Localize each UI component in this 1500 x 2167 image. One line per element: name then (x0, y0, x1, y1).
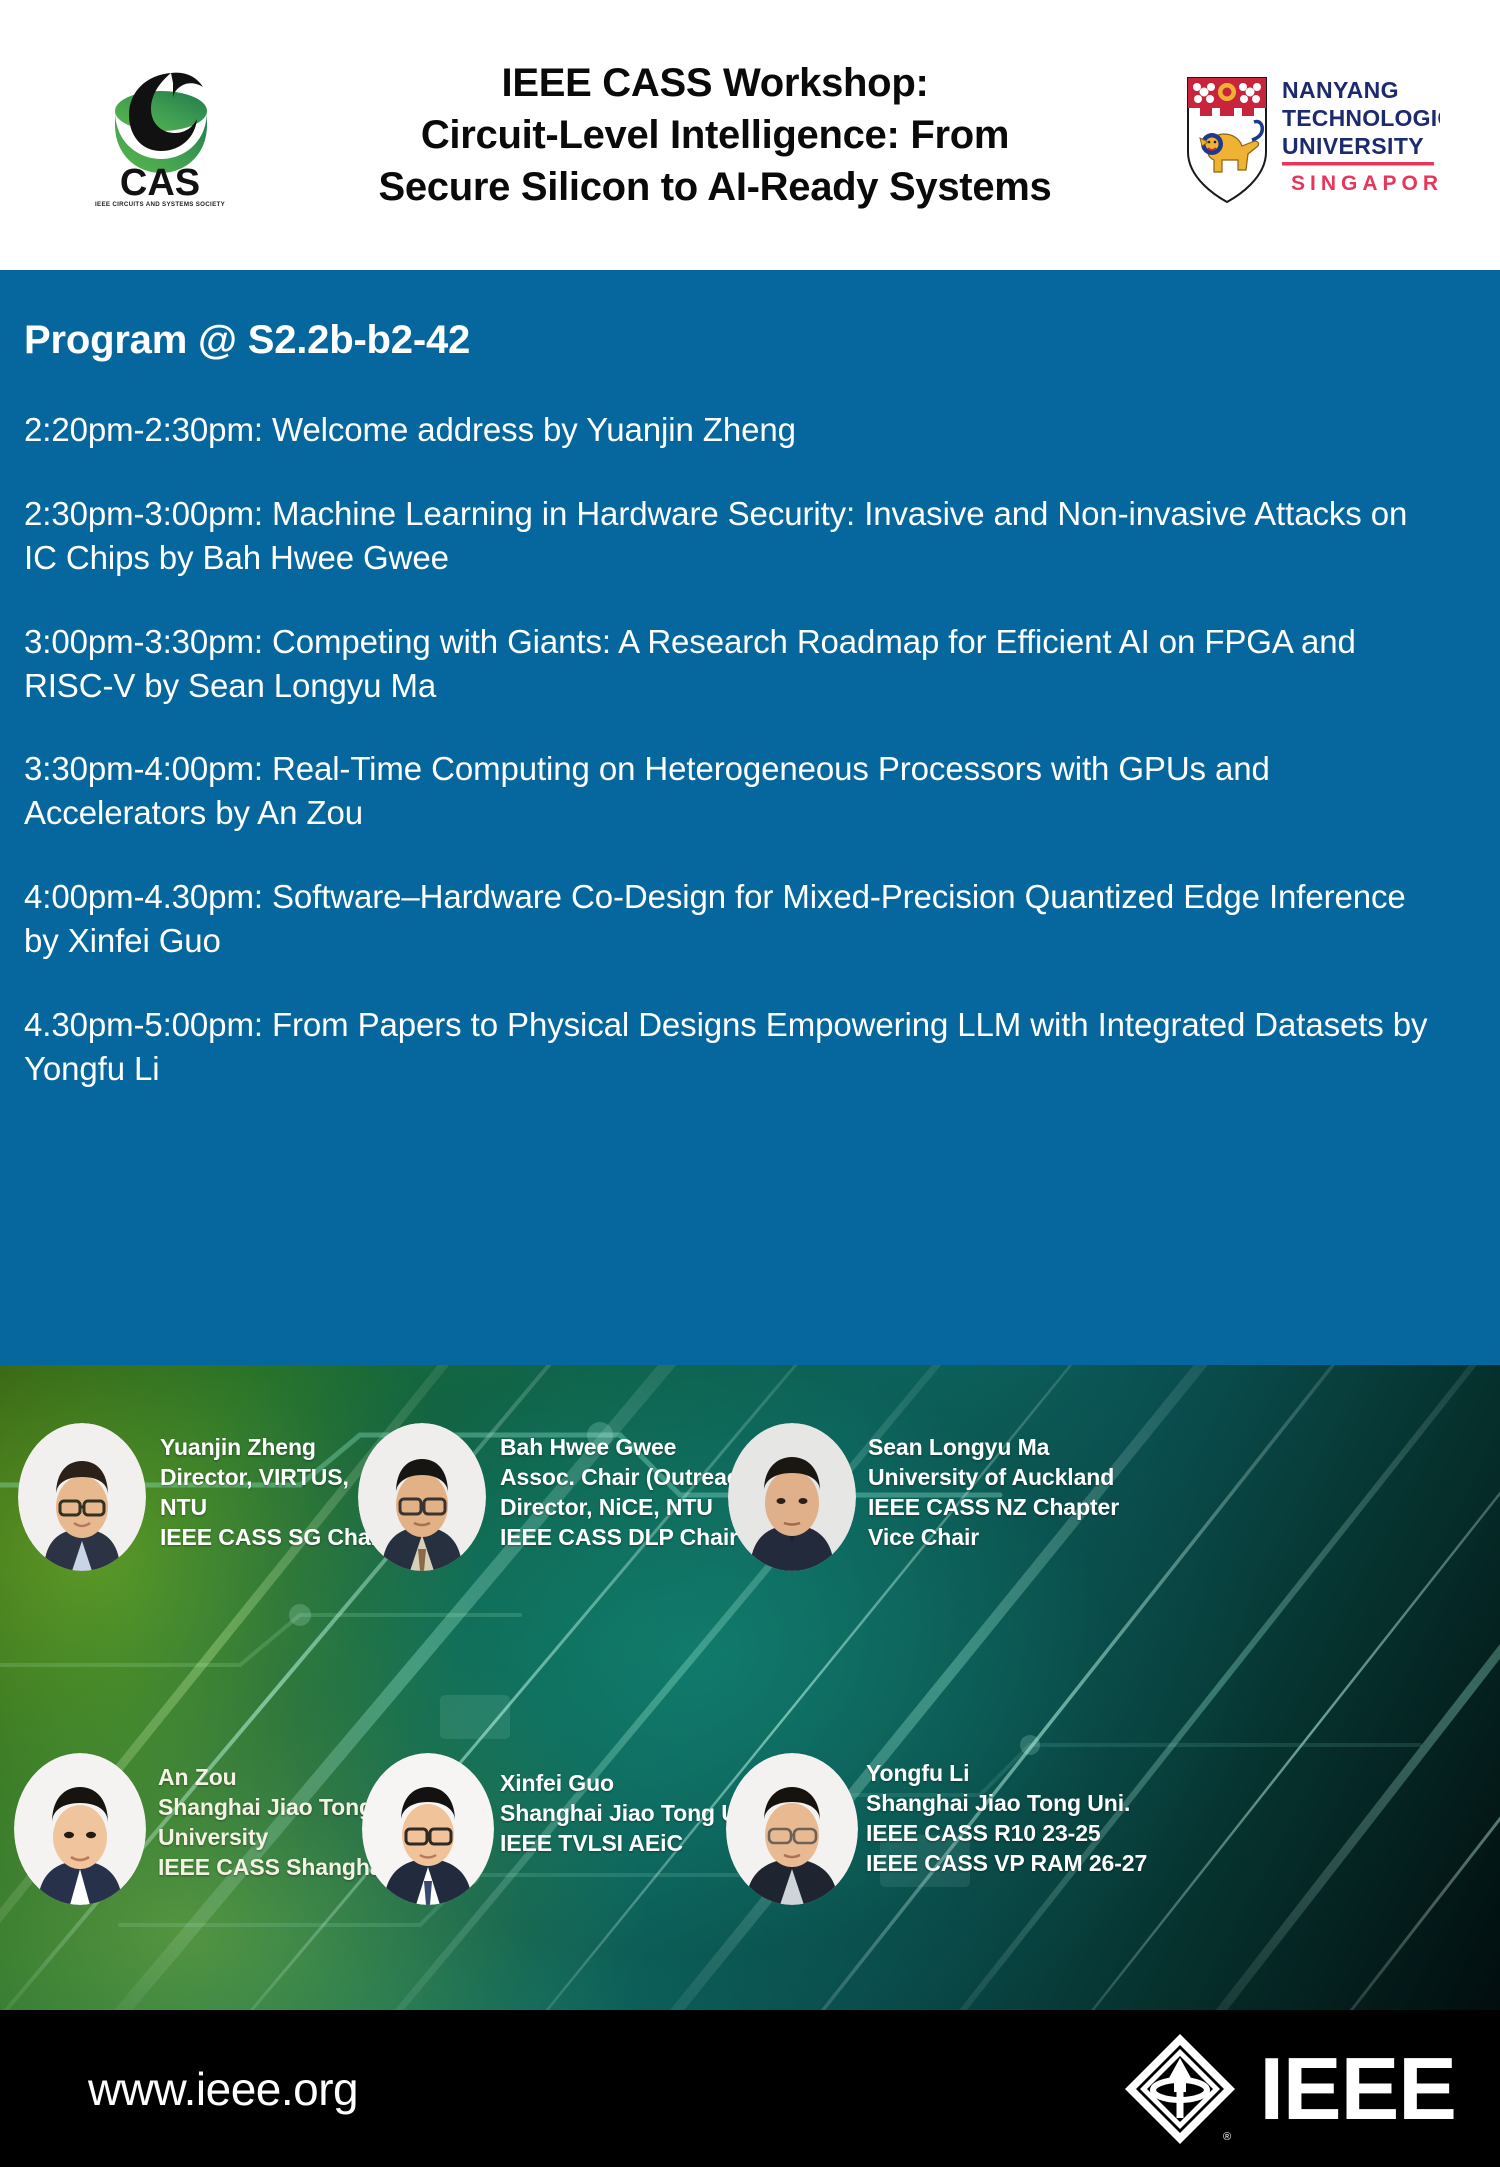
speaker-detail: IEEE CASS SG Chair (160, 1523, 386, 1553)
program-item: 4.30pm-5:00pm: From Papers to Physical D… (24, 1003, 1444, 1091)
speaker-detail: IEEE CASS Shanghai (158, 1853, 389, 1883)
speaker-info: An Zou Shanghai Jiao Tong University IEE… (158, 1763, 389, 1883)
speaker-detail: IEEE TVLSI AEiC (500, 1829, 764, 1859)
avatar (728, 1423, 856, 1571)
program-item: 3:30pm-4:00pm: Real-Time Computing on He… (24, 747, 1444, 835)
speaker-detail: IEEE CASS DLP Chair (500, 1523, 761, 1553)
speaker-name: Yuanjin Zheng (160, 1433, 386, 1463)
speaker-name: An Zou (158, 1763, 389, 1793)
speaker-detail: Director, NiCE, NTU (500, 1493, 761, 1523)
program-item: 3:00pm-3:30pm: Competing with Giants: A … (24, 620, 1444, 708)
poster-header: CAS IEEE CIRCUITS AND SYSTEMS SOCIETY IE… (0, 0, 1500, 270)
speaker-name: Sean Longyu Ma (868, 1433, 1119, 1463)
ntu-logo: NANYANG TECHNOLOGICAL UNIVERSITY SINGAPO… (1170, 50, 1440, 220)
speaker-detail: Vice Chair (868, 1523, 1119, 1553)
cas-acronym: CAS (120, 162, 200, 204)
cas-swoosh-icon: CAS IEEE CIRCUITS AND SYSTEMS SOCIETY (85, 63, 235, 208)
speaker-name: Yongfu Li (866, 1759, 1147, 1789)
speakers-panel: Yuanjin Zheng Director, VIRTUS, NTU IEEE… (0, 1365, 1500, 2010)
ieee-logo: ® IEEE (1119, 2028, 1456, 2150)
title-line-1: IEEE CASS Workshop: (270, 57, 1160, 109)
speaker-detail: Assoc. Chair (Outreach) (500, 1463, 761, 1493)
program-panel: Program @ S2.2b-b2-42 2:20pm-2:30pm: Wel… (0, 270, 1500, 1365)
poster-root: CAS IEEE CIRCUITS AND SYSTEMS SOCIETY IE… (0, 0, 1500, 2167)
speaker-detail: Shanghai Jiao Tong Uni. (866, 1789, 1147, 1819)
avatar (18, 1423, 146, 1571)
speaker-detail: University (158, 1823, 389, 1853)
title-line-3: Secure Silicon to AI-Ready Systems (270, 161, 1160, 213)
speaker-name: Xinfei Guo (500, 1769, 764, 1799)
program-item: 2:30pm-3:00pm: Machine Learning in Hardw… (24, 492, 1444, 580)
ntu-divider (1282, 162, 1434, 166)
speaker-detail: IEEE CASS NZ Chapter (868, 1493, 1119, 1523)
speaker-detail: Shanghai Jiao Tong (158, 1793, 389, 1823)
program-title: Program @ S2.2b-b2-42 (24, 318, 1444, 362)
speaker-detail: NTU (160, 1493, 386, 1523)
ntu-line-4: SINGAPORE (1291, 172, 1440, 195)
ntu-crest-icon: NANYANG TECHNOLOGICAL UNIVERSITY SINGAPO… (1178, 60, 1440, 210)
ieee-wordmark: IEEE (1259, 2045, 1456, 2133)
avatar (726, 1753, 858, 1905)
program-item: 2:20pm-2:30pm: Welcome address by Yuanji… (24, 408, 1444, 452)
cas-tagline: IEEE CIRCUITS AND SYSTEMS SOCIETY (95, 201, 226, 208)
avatar (14, 1753, 146, 1905)
speaker-detail: IEEE CASS R10 23-25 (866, 1819, 1147, 1849)
title-line-2: Circuit-Level Intelligence: From (270, 109, 1160, 161)
ntu-line-1: NANYANG (1282, 77, 1399, 103)
program-item: 4:00pm-4.30pm: Software–Hardware Co-Desi… (24, 875, 1444, 963)
cas-logo: CAS IEEE CIRCUITS AND SYSTEMS SOCIETY (60, 30, 260, 240)
speaker-info: Yuanjin Zheng Director, VIRTUS, NTU IEEE… (160, 1433, 386, 1553)
avatar (362, 1753, 494, 1905)
ntu-line-2: TECHNOLOGICAL (1282, 105, 1440, 131)
speaker-detail: Director, VIRTUS, (160, 1463, 386, 1493)
avatar (358, 1423, 486, 1571)
speaker-info: Sean Longyu Ma University of Auckland IE… (868, 1433, 1119, 1553)
speaker-info: Yongfu Li Shanghai Jiao Tong Uni. IEEE C… (866, 1759, 1147, 1879)
ieee-diamond-icon: ® (1119, 2028, 1241, 2150)
poster-footer: www.ieee.org ® IEEE (0, 2010, 1500, 2167)
svg-text:®: ® (1223, 2131, 1231, 2143)
ieee-url[interactable]: www.ieee.org (88, 2062, 358, 2116)
speaker-detail: University of Auckland (868, 1463, 1119, 1493)
ntu-line-3: UNIVERSITY (1282, 133, 1424, 159)
speaker-name: Bah Hwee Gwee (500, 1433, 761, 1463)
speaker-detail: IEEE CASS VP RAM 26-27 (866, 1849, 1147, 1879)
speaker-detail: Shanghai Jiao Tong Uni. (500, 1799, 764, 1829)
speaker-info: Bah Hwee Gwee Assoc. Chair (Outreach) Di… (500, 1433, 761, 1553)
page-title: IEEE CASS Workshop: Circuit-Level Intell… (260, 57, 1170, 213)
speaker-info: Xinfei Guo Shanghai Jiao Tong Uni. IEEE … (500, 1769, 764, 1859)
